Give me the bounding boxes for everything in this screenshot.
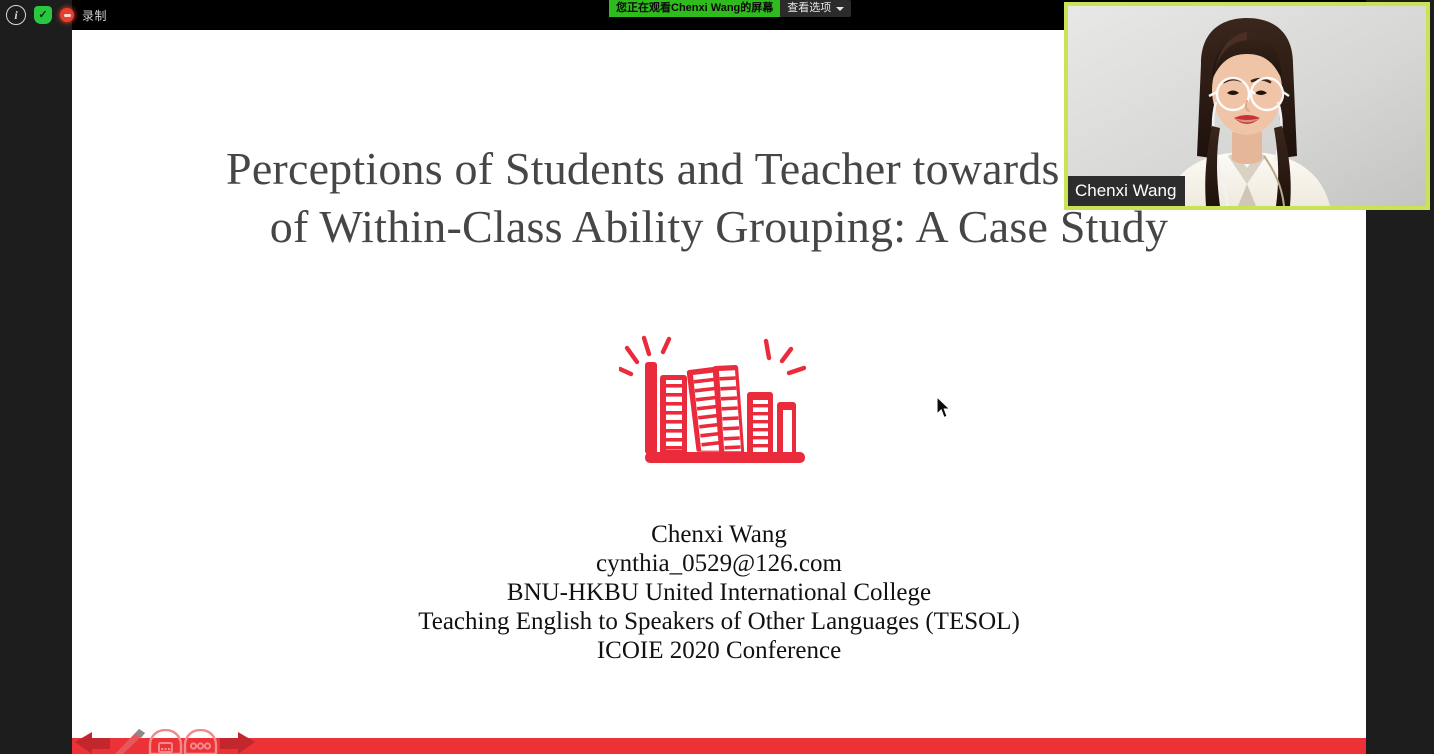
recording-label: 录制 [82, 7, 107, 24]
mouse-cursor [936, 396, 952, 420]
conference-name: ICOIE 2020 Conference [72, 636, 1366, 665]
books-on-shelf-icon [619, 330, 819, 480]
recording-dot [64, 14, 71, 17]
encryption-shield-icon[interactable]: ✓ [34, 6, 52, 24]
previous-slide-button[interactable] [72, 729, 112, 754]
zoom-screen-share-window: i ✓ 录制 您正在观看Chenxi Wang的屏幕 查看选项 Percepti… [0, 0, 1434, 754]
author-institution: BNU-HKBU United International College [72, 578, 1366, 607]
view-options-button[interactable]: 查看选项 [780, 0, 851, 17]
author-info-block: Chenxi Wang cynthia_0529@126.com BNU-HKB… [72, 520, 1366, 665]
participant-name-label: Chenxi Wang [1068, 176, 1185, 206]
next-slide-button[interactable] [218, 729, 258, 754]
presentation-toolbar [72, 729, 258, 754]
pen-tool-button[interactable] [112, 729, 148, 754]
window-chrome-left [0, 0, 72, 754]
recording-indicator-icon[interactable] [60, 8, 74, 22]
author-program: Teaching English to Speakers of Other La… [72, 607, 1366, 636]
viewing-notice: 您正在观看Chenxi Wang的屏幕 [609, 0, 780, 17]
slide-navigator-button[interactable] [148, 729, 183, 754]
screen-share-banner: 您正在观看Chenxi Wang的屏幕 查看选项 [609, 0, 851, 17]
slide-title-line-2: of Within-Class Ability Grouping: A Case… [270, 201, 1168, 252]
presentation-toolbar-bar [72, 738, 1366, 754]
meeting-status-cluster: i ✓ 录制 [0, 0, 107, 30]
author-email: cynthia_0529@126.com [72, 549, 1366, 578]
info-icon[interactable]: i [6, 5, 26, 25]
chevron-down-icon [836, 7, 844, 11]
more-options-button[interactable] [183, 729, 218, 754]
participant-video-tile[interactable]: Chenxi Wang [1064, 2, 1430, 210]
author-name: Chenxi Wang [72, 520, 1366, 549]
view-options-label: 查看选项 [787, 0, 831, 17]
